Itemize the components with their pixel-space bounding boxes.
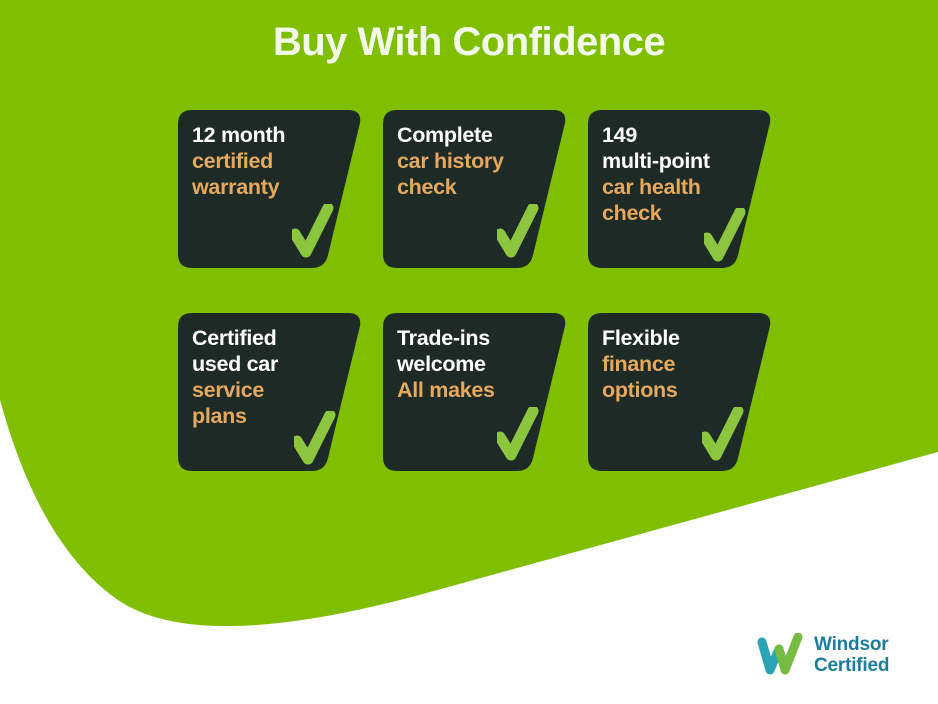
check-icon bbox=[497, 204, 539, 260]
card-line-orange: All makes bbox=[397, 377, 549, 403]
card-line-white: Trade-ins bbox=[397, 325, 549, 351]
card-line-orange: car history bbox=[397, 148, 549, 174]
check-icon bbox=[294, 411, 336, 467]
card-text: 12 month certified warranty bbox=[192, 122, 344, 200]
logo-line-1: Windsor bbox=[814, 634, 889, 655]
card-text: Flexible finance options bbox=[602, 325, 754, 403]
card-line-white: Certified bbox=[192, 325, 344, 351]
page-title: Buy With Confidence bbox=[0, 20, 938, 65]
card-line-white: Complete bbox=[397, 122, 549, 148]
card-line-orange: options bbox=[602, 377, 754, 403]
slide-canvas: Buy With Confidence 12 month certified w… bbox=[0, 0, 938, 704]
card-flexible-finance-options[interactable]: Flexible finance options bbox=[588, 313, 772, 471]
card-complete-car-history-check[interactable]: Complete car history check bbox=[383, 110, 567, 268]
card-line-white: 12 month bbox=[192, 122, 344, 148]
card-12-month-certified-warranty[interactable]: 12 month certified warranty bbox=[178, 110, 362, 268]
card-trade-ins-welcome-all-makes[interactable]: Trade-ins welcome All makes bbox=[383, 313, 567, 471]
card-line-orange: finance bbox=[602, 351, 754, 377]
logo-wordmark: Windsor Certified bbox=[814, 634, 889, 677]
card-149-multi-point-car-health-check[interactable]: 149 multi-point car health check bbox=[588, 110, 772, 268]
card-line-orange: certified bbox=[192, 148, 344, 174]
logo-line-2: Certified bbox=[814, 655, 889, 676]
check-icon bbox=[292, 204, 334, 260]
check-icon bbox=[704, 208, 746, 264]
feature-card-grid: 12 month certified warranty Complete car… bbox=[178, 110, 758, 473]
card-text: Complete car history check bbox=[397, 122, 549, 200]
check-icon bbox=[497, 407, 539, 463]
windsor-certified-logo[interactable]: Windsor Certified bbox=[757, 627, 929, 683]
card-text: Trade-ins welcome All makes bbox=[397, 325, 549, 403]
check-icon bbox=[702, 407, 744, 463]
card-certified-used-car-service-plans[interactable]: Certified used car service plans bbox=[178, 313, 362, 471]
card-row-bottom: Certified used car service plans Trade-i… bbox=[178, 313, 758, 473]
card-line-orange: service bbox=[192, 377, 344, 403]
card-line-white: welcome bbox=[397, 351, 549, 377]
card-line-white: 149 bbox=[602, 122, 754, 148]
card-line-white: used car bbox=[192, 351, 344, 377]
card-line-white: multi-point bbox=[602, 148, 754, 174]
card-line-orange: car health bbox=[602, 174, 754, 200]
windsor-w-icon bbox=[757, 633, 805, 677]
card-line-white: Flexible bbox=[602, 325, 754, 351]
card-line-orange: warranty bbox=[192, 174, 344, 200]
card-row-top: 12 month certified warranty Complete car… bbox=[178, 110, 758, 270]
card-line-orange: check bbox=[397, 174, 549, 200]
